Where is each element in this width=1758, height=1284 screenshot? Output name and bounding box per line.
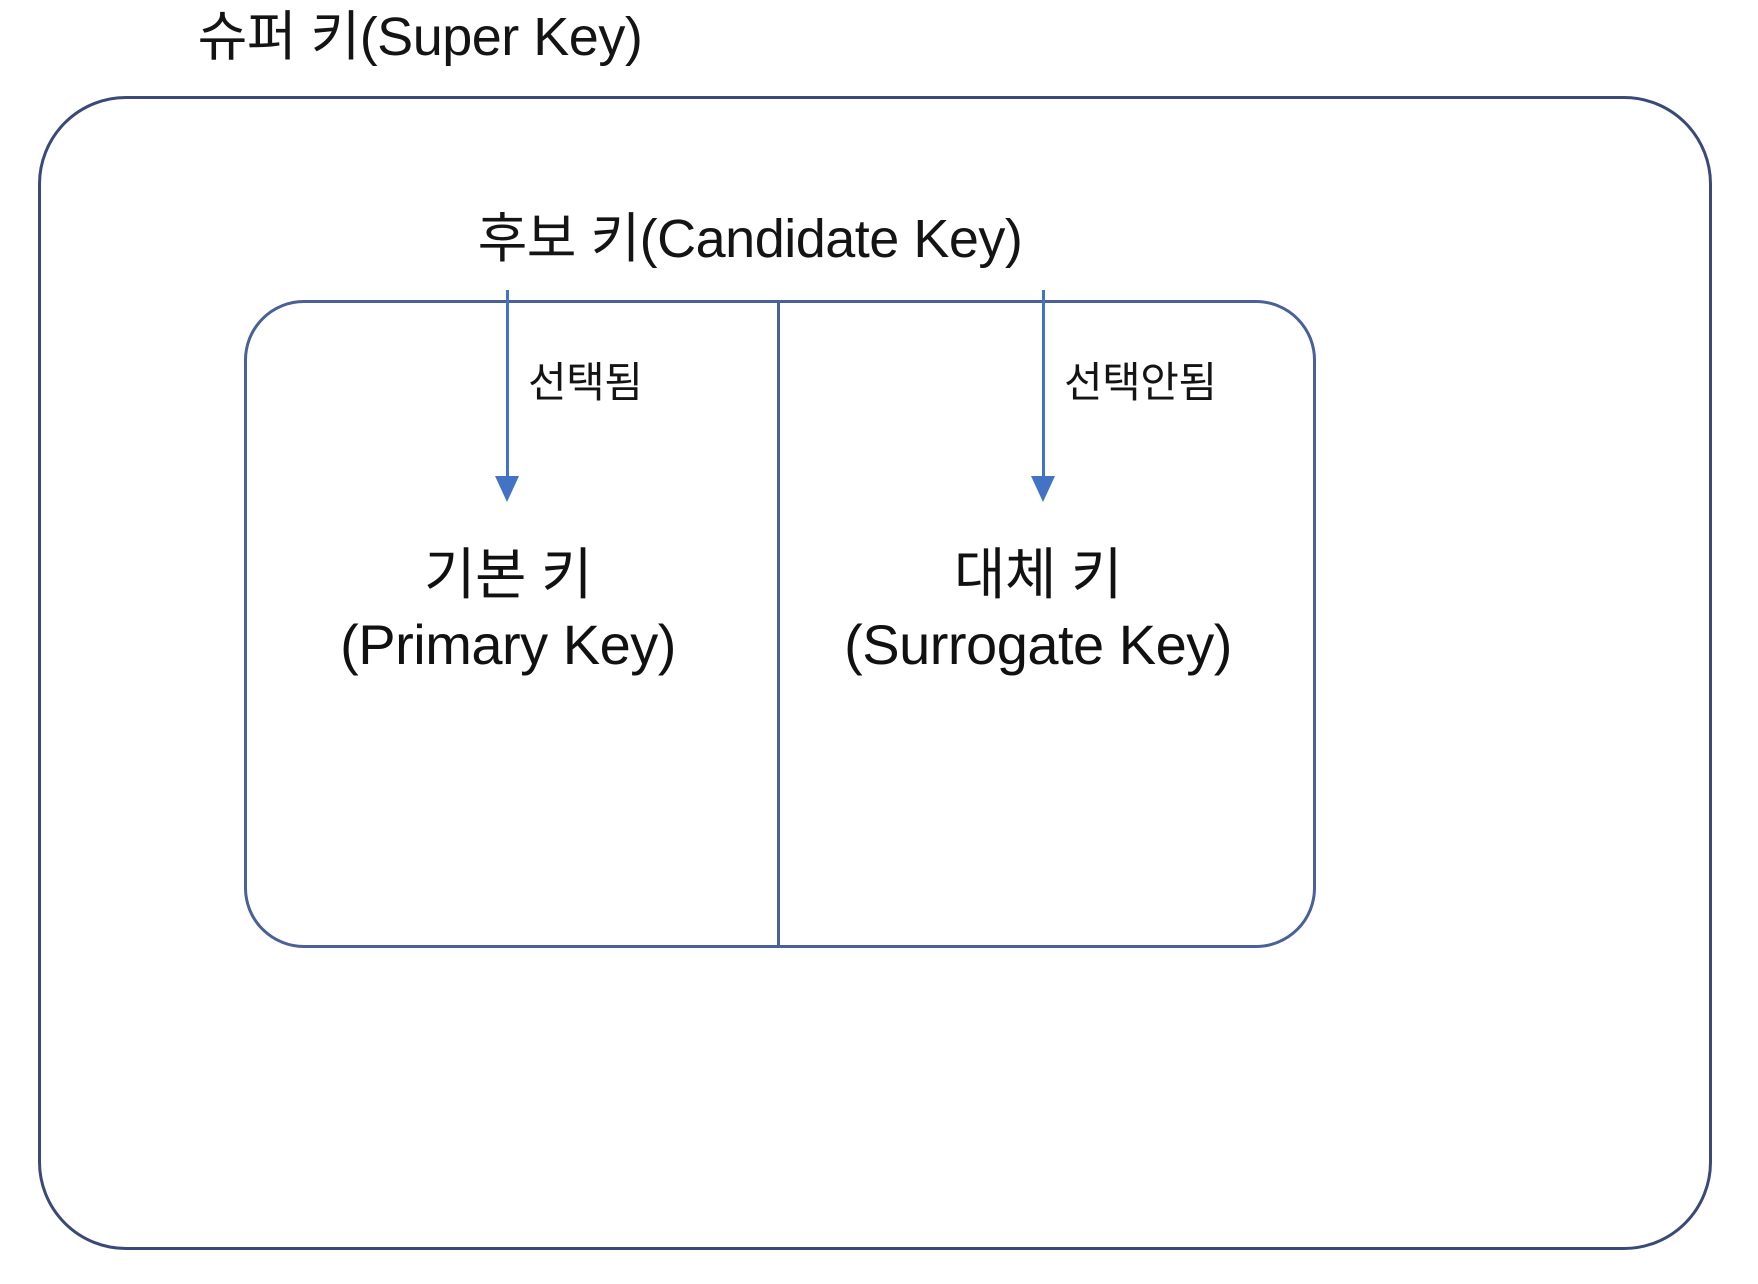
super-key-title: 슈퍼 키(Super Key)	[0, 6, 840, 68]
primary-key-name-en: (Primary Key)	[248, 610, 768, 680]
surrogate-key-name-ko: 대체 키	[778, 540, 1298, 610]
selected-arrow-label: 선택됨	[528, 358, 642, 408]
surrogate-key-label-group: 대체 키 (Surrogate Key)	[778, 540, 1298, 680]
primary-key-label-group: 기본 키 (Primary Key)	[248, 540, 768, 680]
not-selected-arrow-label: 선택안됨	[1064, 358, 1217, 408]
key-hierarchy-diagram: 슈퍼 키(Super Key) 후보 키(Candidate Key) 선택됨 …	[0, 0, 1758, 1284]
candidate-key-title: 후보 키(Candidate Key)	[292, 208, 1208, 270]
primary-key-name-ko: 기본 키	[248, 540, 768, 610]
surrogate-key-name-en: (Surrogate Key)	[778, 610, 1298, 680]
